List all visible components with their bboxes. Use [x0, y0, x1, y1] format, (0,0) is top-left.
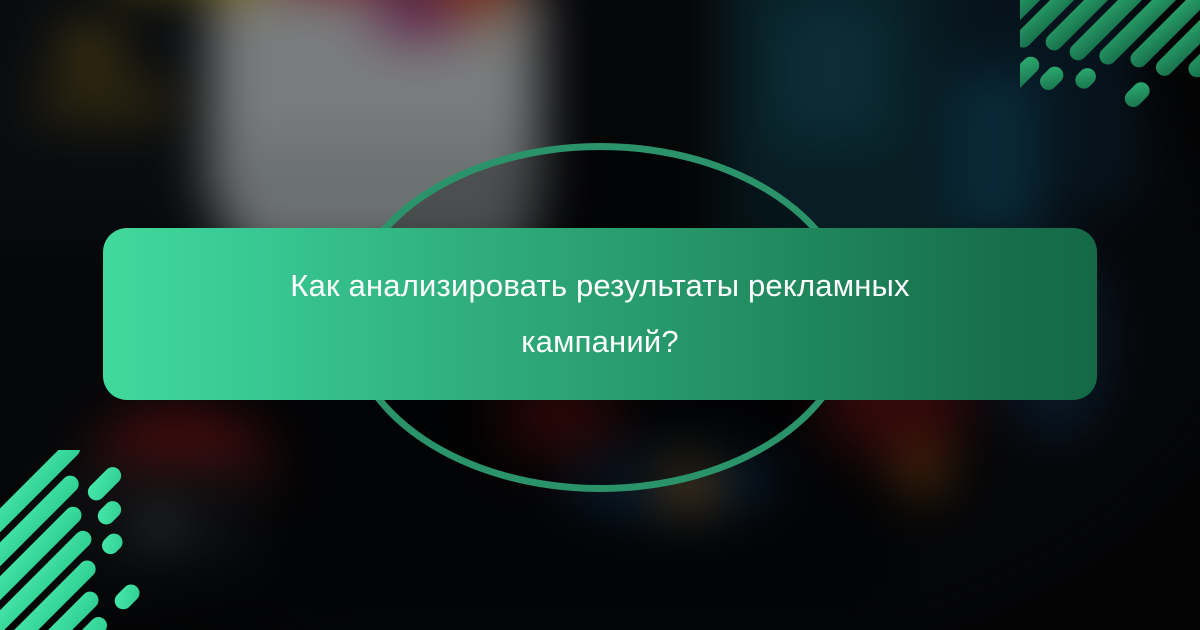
social-share-card: Как анализировать результаты рекламных к…: [0, 0, 1200, 630]
corner-decoration-bottom-left: [0, 450, 180, 630]
title-banner: Как анализировать результаты рекламных к…: [103, 228, 1097, 400]
page-title: Как анализировать результаты рекламных к…: [230, 258, 970, 370]
corner-decoration-top-right: [1020, 0, 1200, 180]
